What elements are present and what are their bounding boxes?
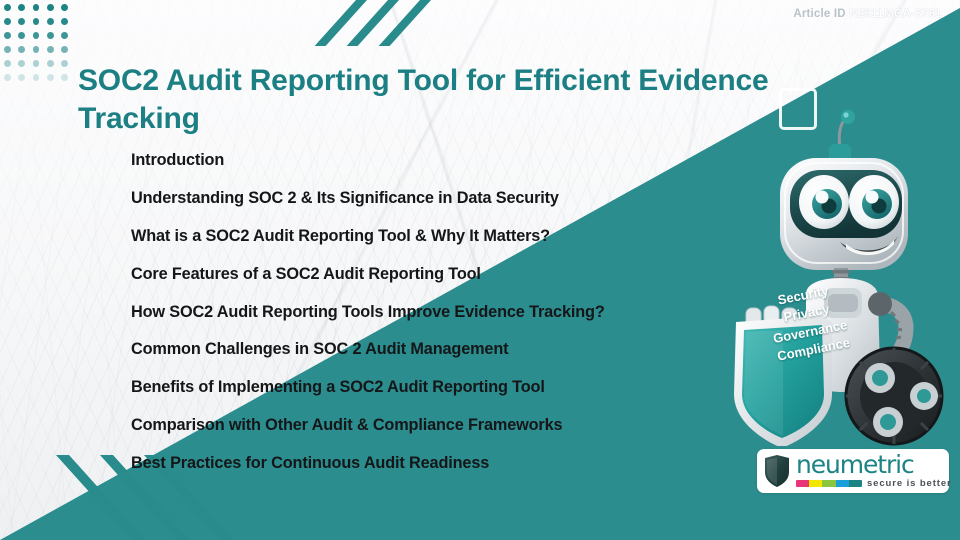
slide-canvas: Article ID N2511MCA-3761 SOC2 Audit Repo… (0, 0, 960, 540)
toc-item[interactable]: What is a SOC2 Audit Reporting Tool & Wh… (131, 228, 751, 244)
toc-item[interactable]: How SOC2 Audit Reporting Tools Improve E… (131, 304, 751, 320)
top-diagonal-stripes (330, 0, 450, 40)
article-id: Article ID N2511MCA-3761 (793, 8, 942, 20)
logo-wordmark: neumetric (796, 453, 952, 477)
rainbow-bar (796, 480, 862, 487)
toc-item[interactable]: Benefits of Implementing a SOC2 Audit Re… (131, 379, 751, 395)
toc-item[interactable]: Best Practices for Continuous Audit Read… (131, 455, 751, 471)
robot-mascot-illustration (728, 108, 960, 446)
toc-item[interactable]: Comparison with Other Audit & Compliance… (131, 417, 751, 433)
neumetric-logo[interactable]: neumetric secure is better (757, 449, 949, 493)
article-id-value: N2511MCA-3761 (849, 8, 942, 20)
shield-icon (763, 454, 791, 488)
article-id-label: Article ID (793, 8, 846, 20)
dot-grid-decoration (4, 4, 68, 78)
toc-item[interactable]: Common Challenges in SOC 2 Audit Managem… (131, 341, 751, 357)
table-of-contents: Introduction Understanding SOC 2 & Its S… (91, 152, 751, 493)
toc-item[interactable]: Introduction (131, 152, 751, 168)
logo-tagline: secure is better (867, 478, 952, 489)
toc-item[interactable]: Core Features of a SOC2 Audit Reporting … (131, 266, 751, 282)
toc-item[interactable]: Understanding SOC 2 & Its Significance i… (131, 190, 751, 206)
